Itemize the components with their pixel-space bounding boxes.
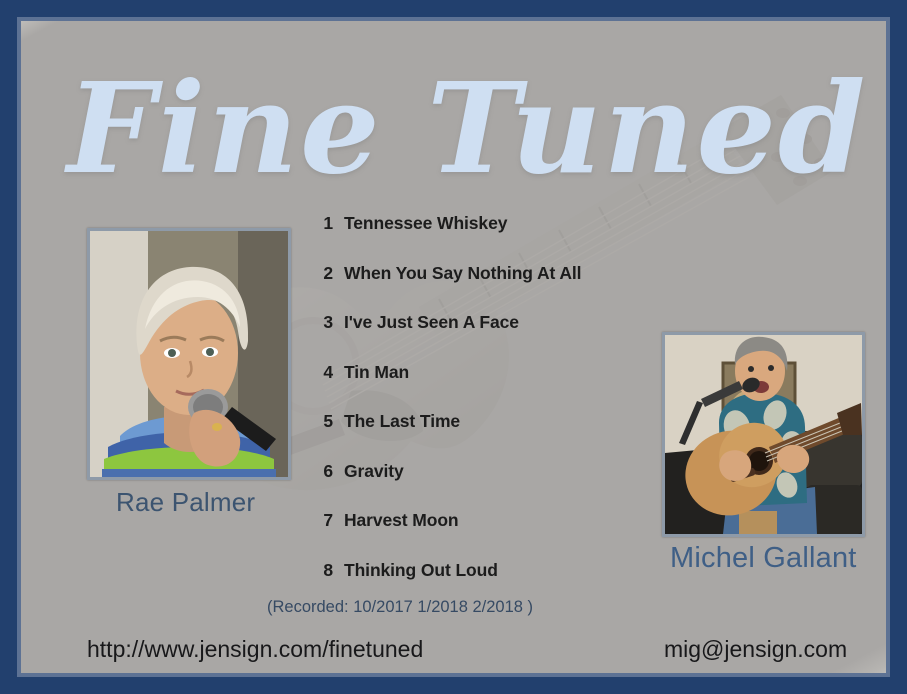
performer-name-rae-palmer: Rae Palmer (116, 487, 255, 518)
track-row: 3 I've Just Seen A Face (301, 312, 631, 362)
website-url[interactable]: http://www.jensign.com/finetuned (87, 636, 423, 663)
recording-dates: (Recorded: 10/2017 1/2018 2/2018 ) (267, 598, 533, 617)
track-row: 4 Tin Man (301, 362, 631, 412)
track-number: 6 (301, 461, 333, 482)
track-title: Harvest Moon (344, 510, 459, 531)
track-title: Tin Man (344, 362, 409, 383)
artwork-area: Fine Tuned (21, 21, 886, 673)
track-row: 5 The Last Time (301, 411, 631, 461)
track-list: 1 Tennessee Whiskey 2 When You Say Nothi… (301, 213, 631, 609)
track-row: 2 When You Say Nothing At All (301, 263, 631, 313)
track-row: 7 Harvest Moon (301, 510, 631, 560)
track-number: 4 (301, 362, 333, 383)
track-number: 3 (301, 312, 333, 333)
photo-rae-palmer (87, 228, 291, 480)
performer-name-michel-gallant: Michel Gallant (670, 542, 857, 575)
michel-gallant-portrait (665, 335, 862, 534)
track-number: 2 (301, 263, 333, 284)
track-title: The Last Time (344, 411, 460, 432)
track-title: I've Just Seen A Face (344, 312, 519, 333)
track-title: Thinking Out Loud (344, 560, 498, 581)
track-number: 7 (301, 510, 333, 531)
album-title: Fine Tuned (67, 67, 847, 192)
track-number: 8 (301, 560, 333, 581)
track-title: Gravity (344, 461, 404, 482)
track-title: When You Say Nothing At All (344, 263, 581, 284)
track-row: 1 Tennessee Whiskey (301, 213, 631, 263)
track-title: Tennessee Whiskey (344, 213, 507, 234)
track-number: 5 (301, 411, 333, 432)
cd-cover-artwork: Fine Tuned (0, 0, 907, 694)
rae-palmer-portrait (90, 231, 288, 477)
track-row: 6 Gravity (301, 461, 631, 511)
contact-email[interactable]: mig@jensign.com (664, 636, 847, 663)
photo-michel-gallant (662, 332, 865, 537)
track-number: 1 (301, 213, 333, 234)
